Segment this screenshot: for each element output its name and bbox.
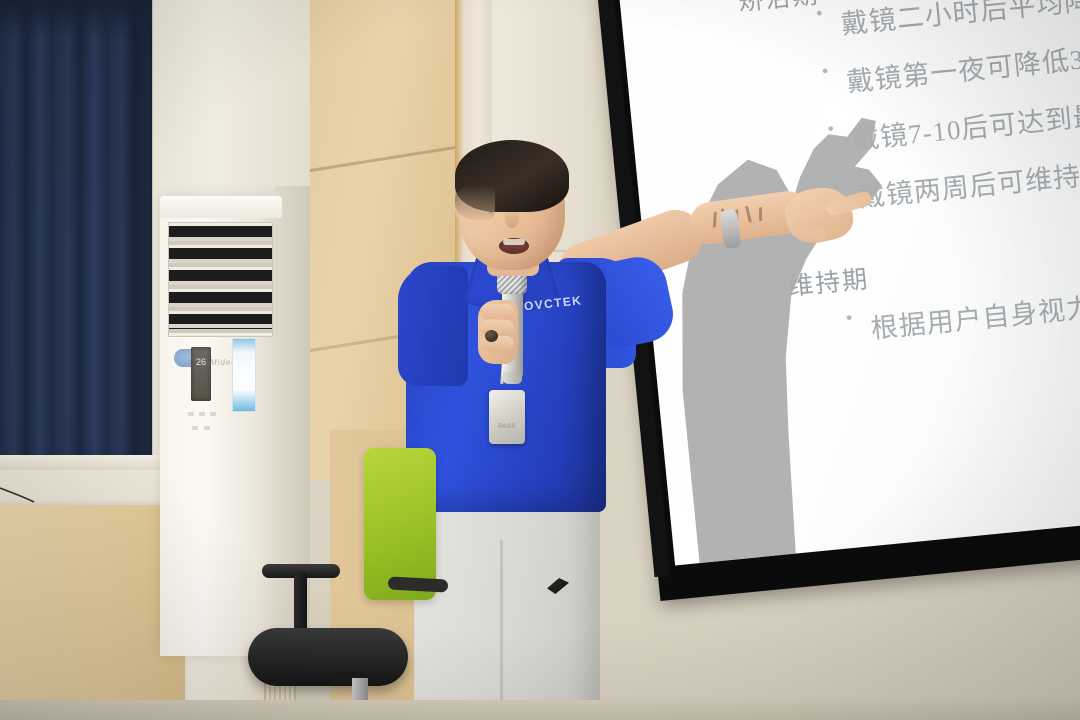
presenter-left-shoulder <box>398 266 468 386</box>
presenter-hair-fade <box>455 186 495 220</box>
id-badge-label: PASS <box>489 424 525 430</box>
presenter-trouser-seam <box>500 540 503 720</box>
presenter-left-hand <box>478 300 518 364</box>
id-badge: PASS <box>489 390 525 444</box>
presenter-trousers <box>414 496 600 720</box>
presenter: OVCTEK PASS <box>0 0 1080 720</box>
microphone-base <box>503 372 522 384</box>
floor <box>0 700 1080 720</box>
black-chair-arm-post <box>294 572 307 634</box>
classroom-presentation-photo: Midea 26 矫治期 戴镜二小时后平均降低 戴镜第一夜可降低300 戴镜7-… <box>0 0 1080 720</box>
presenter-ring <box>485 330 498 342</box>
black-office-chair-seat[interactable] <box>248 628 408 686</box>
presenter-teeth <box>503 239 525 245</box>
